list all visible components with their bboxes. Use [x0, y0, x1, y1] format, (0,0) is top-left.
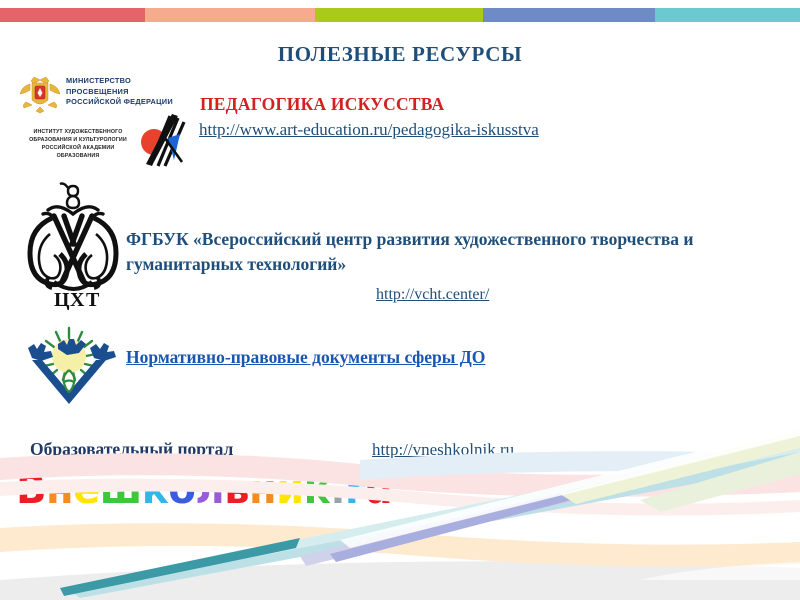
top-bar-segment-teal [655, 8, 800, 22]
vcht-monogram-icon: Ц Х Т [18, 178, 128, 310]
vneshkolnik-wordmark: Внешкольник.ru [16, 470, 392, 510]
vcht-monogram-logo: Ц Х Т [18, 178, 128, 310]
svg-text:Ц: Ц [54, 289, 70, 310]
double-headed-eagle-icon [18, 74, 62, 114]
wordmark-letter-0: В [16, 467, 46, 513]
svg-text:Т: Т [86, 289, 100, 310]
wordmark-letter-11: . [330, 467, 345, 513]
pedagogika-heading: ПЕДАГОГИКА ИСКУССТВА [200, 94, 444, 115]
vcht-heading: ФГБУК «Всероссийский центр развития худо… [126, 227, 726, 277]
normative-documents-link[interactable]: Нормативно-правовые документы сферы ДО [126, 347, 485, 368]
wordmark-letter-10: к [304, 467, 331, 513]
wordmark-letter-9: и [276, 467, 304, 513]
top-bar-segment-blue [483, 8, 655, 22]
top-bar-segment-salmon [145, 8, 315, 22]
top-bar-segment-green [315, 8, 483, 22]
sun-and-figures-icon [18, 326, 120, 406]
ministry-name-text: МИНИСТЕРСТВО ПРОСВЕЩЕНИЯ РОССИЙСКОЙ ФЕДЕ… [66, 76, 173, 108]
slide-canvas: ПОЛЕЗНЫЕ РЕСУРСЫ МИНИСТЕРСТВО ПРОСВЕЩЕНИ… [0, 0, 800, 600]
wordmark-letter-12: r [345, 467, 364, 513]
pedagogika-link[interactable]: http://www.art-education.ru/pedagogika-i… [199, 120, 539, 140]
wordmark-letter-4: к [142, 467, 169, 513]
do-sun-logo [18, 326, 120, 406]
wordmark-letter-13: u [364, 467, 392, 513]
wordmark-letter-5: о [168, 467, 195, 513]
wordmark-letter-7: ь [224, 467, 249, 513]
svg-text:Х: Х [70, 289, 85, 310]
top-bar-segment-red [0, 8, 145, 22]
vcht-link[interactable]: http://vcht.center/ [376, 286, 489, 304]
top-color-bar [0, 8, 800, 22]
educational-portal-label: Образовательный портал [30, 439, 233, 460]
ministry-logo: МИНИСТЕРСТВО ПРОСВЕЩЕНИЯ РОССИЙСКОЙ ФЕДЕ… [14, 70, 190, 170]
wordmark-letter-2: е [73, 467, 100, 513]
wordmark-letter-1: н [46, 467, 73, 513]
iho-rao-mark-icon [132, 112, 188, 168]
wordmark-letter-6: л [195, 467, 224, 513]
wordmark-letter-8: н [249, 467, 276, 513]
wordmark-letter-3: ш [100, 467, 142, 513]
institute-name-text: ИНСТИТУТ ХУДОЖЕСТВЕННОГО ОБРАЗОВАНИЯ И К… [24, 128, 132, 160]
page-title: ПОЛЕЗНЫЕ РЕСУРСЫ [0, 42, 800, 67]
vneshkolnik-link[interactable]: http://vneshkolnik.ru [372, 440, 514, 460]
